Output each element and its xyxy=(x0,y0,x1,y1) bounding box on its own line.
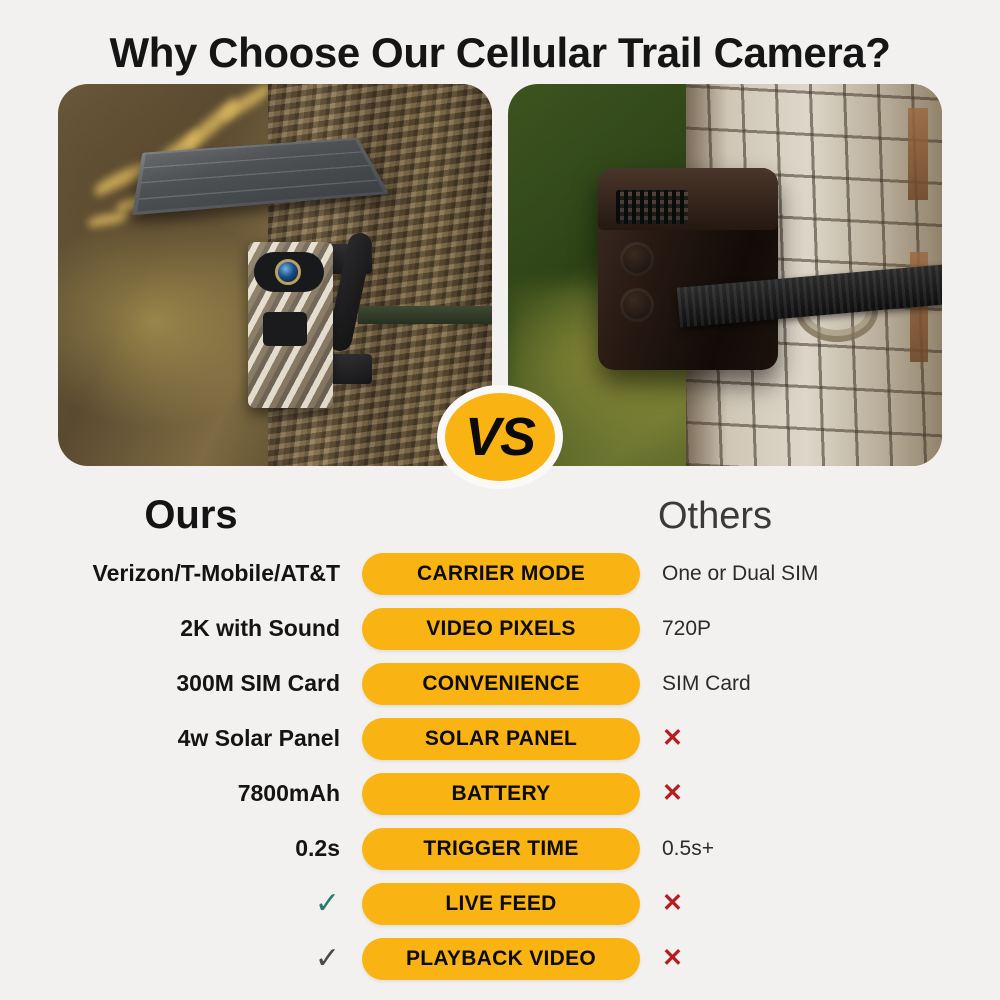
ours-value: 0.2s xyxy=(20,835,362,862)
comparison-row: ✓PLAYBACK VIDEO✕ xyxy=(20,931,980,986)
ours-product-photo xyxy=(58,84,492,466)
feature-pill[interactable]: PLAYBACK VIDEO xyxy=(362,938,640,980)
check-icon: ✓ xyxy=(315,942,340,975)
ours-value: 4w Solar Panel xyxy=(20,725,362,752)
comparison-rows: Verizon/T-Mobile/AT&TCARRIER MODEOne or … xyxy=(20,546,980,986)
pir-sensor xyxy=(263,312,307,346)
comparison-row: 0.2sTRIGGER TIME0.5s+ xyxy=(20,821,980,876)
ours-value: Verizon/T-Mobile/AT&T xyxy=(20,560,362,587)
others-value: One or Dual SIM xyxy=(640,562,960,586)
pir-sensor xyxy=(620,288,654,322)
others-value: 720P xyxy=(640,617,960,641)
others-value: ✕ xyxy=(640,726,960,752)
mount-bracket xyxy=(330,354,372,384)
feature-pill[interactable]: TRIGGER TIME xyxy=(362,828,640,870)
cross-icon: ✕ xyxy=(662,724,683,752)
ours-value: ✓ xyxy=(20,889,362,919)
ours-column-header: Ours xyxy=(20,493,362,538)
comparison-headers: Ours Others xyxy=(20,482,980,538)
comparison-row: 7800mAhBATTERY✕ xyxy=(20,766,980,821)
others-column-header: Others xyxy=(640,495,960,538)
ir-led-array xyxy=(616,190,688,224)
comparison-row: ✓LIVE FEED✕ xyxy=(20,876,980,931)
feature-pill[interactable]: LIVE FEED xyxy=(362,883,640,925)
camera-lens xyxy=(275,259,301,285)
check-icon: ✓ xyxy=(315,887,340,920)
feature-pill[interactable]: CONVENIENCE xyxy=(362,663,640,705)
cross-icon: ✕ xyxy=(662,944,683,972)
others-value: ✕ xyxy=(640,781,960,807)
others-value: 0.5s+ xyxy=(640,837,960,861)
feature-pill[interactable]: CARRIER MODE xyxy=(362,553,640,595)
comparison-row: 4w Solar PanelSOLAR PANEL✕ xyxy=(20,711,980,766)
comparison-row: 2K with SoundVIDEO PIXELS720P xyxy=(20,601,980,656)
others-value: ✕ xyxy=(640,891,960,917)
feature-pill[interactable]: SOLAR PANEL xyxy=(362,718,640,760)
page-title: Why Choose Our Cellular Trail Camera? xyxy=(0,0,1000,84)
comparison-row: Verizon/T-Mobile/AT&TCARRIER MODEOne or … xyxy=(20,546,980,601)
cross-icon: ✕ xyxy=(662,779,683,807)
others-product-photo xyxy=(508,84,942,466)
ours-value: ✓ xyxy=(20,944,362,974)
ours-value: 2K with Sound xyxy=(20,615,362,642)
ours-value: 7800mAh xyxy=(20,780,362,807)
bark-patch xyxy=(908,108,928,200)
camera-lens xyxy=(620,242,654,276)
feature-pill[interactable]: VIDEO PIXELS xyxy=(362,608,640,650)
ours-value: 300M SIM Card xyxy=(20,670,362,697)
cross-icon: ✕ xyxy=(662,889,683,917)
others-value: SIM Card xyxy=(640,672,960,696)
comparison-table: Ours Others Verizon/T-Mobile/AT&TCARRIER… xyxy=(0,482,1000,986)
vs-badge: VS xyxy=(437,385,563,489)
mount-strap xyxy=(358,306,492,324)
comparison-row: 300M SIM CardCONVENIENCESIM Card xyxy=(20,656,980,711)
leaf-blur xyxy=(87,211,128,227)
feature-pill[interactable]: BATTERY xyxy=(362,773,640,815)
others-value: ✕ xyxy=(640,946,960,972)
